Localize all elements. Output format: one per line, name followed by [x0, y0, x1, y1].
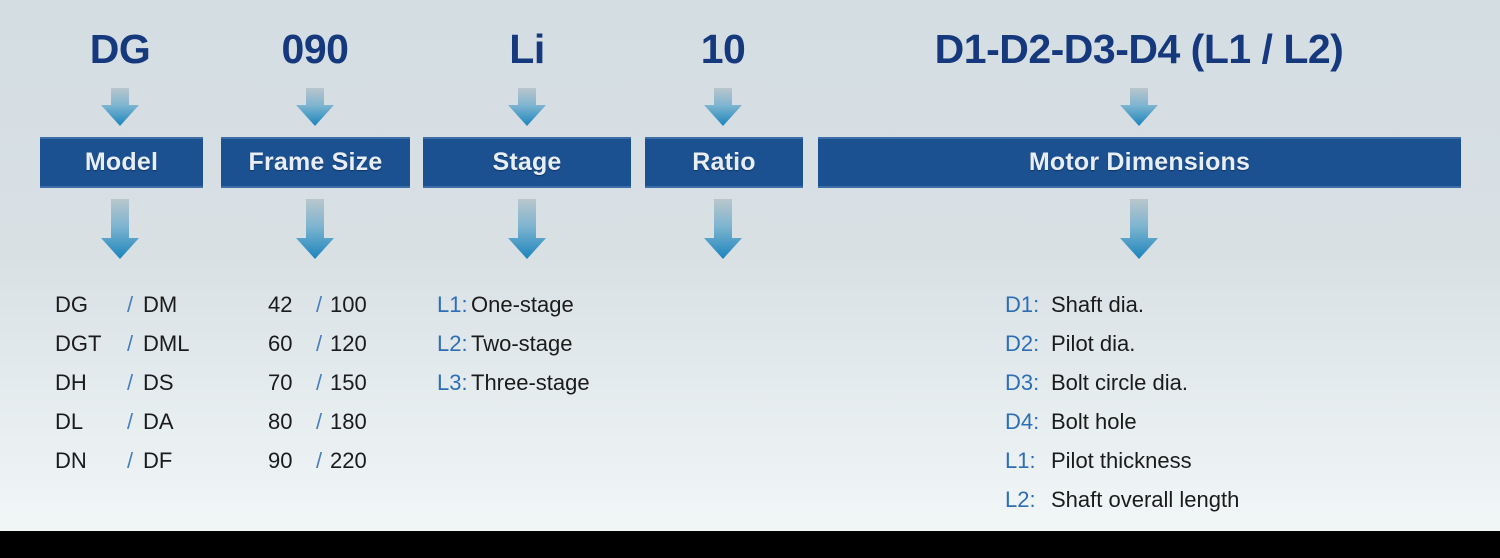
legend-key: L2: [437, 331, 471, 357]
down-arrow-icon [704, 88, 742, 126]
stage-option-row: L3:Three-stage [437, 370, 590, 409]
option-separator: / [117, 409, 143, 435]
legend-value: Two-stage [471, 331, 573, 357]
down-arrow-icon [508, 88, 546, 126]
legend-key: D3: [1005, 370, 1051, 396]
option-row: DN/DF [55, 448, 189, 487]
option-row: DGT/DML [55, 331, 189, 370]
dimension-legend-row: D4:Bolt hole [1005, 409, 1239, 448]
option-separator: / [117, 331, 143, 357]
option-right-value: DML [143, 331, 189, 357]
option-left-value: DG [55, 292, 117, 318]
category-bar: Model [40, 137, 203, 188]
diagram-canvas: DG090Li10D1-D2-D3-D4 (L1 / L2) ModelFram… [0, 0, 1500, 558]
dimension-legend-row: D2:Pilot dia. [1005, 331, 1239, 370]
stage-option-list: L1:One-stageL2:Two-stageL3:Three-stage [437, 292, 590, 409]
bottom-black-band [0, 531, 1500, 558]
down-arrow-icon [704, 199, 742, 259]
legend-value: Shaft overall length [1051, 487, 1239, 513]
option-left-value: 42 [268, 292, 308, 318]
stage-option-row: L1:One-stage [437, 292, 590, 331]
legend-key: L3: [437, 370, 471, 396]
option-separator: / [117, 370, 143, 396]
dimension-legend-row: L1:Pilot thickness [1005, 448, 1239, 487]
category-bar-label: Ratio [692, 148, 756, 177]
option-row: 60/120 [268, 331, 367, 370]
legend-key: L2: [1005, 487, 1051, 513]
option-right-value: 100 [330, 292, 367, 318]
option-right-value: DS [143, 370, 174, 396]
option-row: 90/220 [268, 448, 367, 487]
dimension-legend-row: L2:Shaft overall length [1005, 487, 1239, 526]
legend-key: D4: [1005, 409, 1051, 435]
option-left-value: DGT [55, 331, 117, 357]
code-token: DG [90, 26, 151, 73]
legend-value: Pilot thickness [1051, 448, 1192, 474]
option-right-value: 150 [330, 370, 367, 396]
option-left-value: DH [55, 370, 117, 396]
category-bar: Stage [423, 137, 631, 188]
down-arrow-icon [508, 199, 546, 259]
down-arrow-icon [1120, 88, 1158, 126]
category-bar-label: Frame Size [248, 148, 382, 177]
option-left-value: 60 [268, 331, 308, 357]
option-right-value: 220 [330, 448, 367, 474]
option-separator: / [117, 292, 143, 318]
option-row: 42/100 [268, 292, 367, 331]
dimension-legend-row: D1:Shaft dia. [1005, 292, 1239, 331]
option-left-value: 80 [268, 409, 308, 435]
stage-option-row: L2:Two-stage [437, 331, 590, 370]
code-token: Li [509, 26, 544, 73]
option-left-value: 70 [268, 370, 308, 396]
option-left-value: 90 [268, 448, 308, 474]
legend-key: L1: [437, 292, 471, 318]
down-arrow-icon [101, 88, 139, 126]
category-bar: Ratio [645, 137, 803, 188]
option-right-value: DF [143, 448, 172, 474]
category-bar: Frame Size [221, 137, 410, 188]
motor-dimensions-legend: D1:Shaft dia.D2:Pilot dia.D3:Bolt circle… [1005, 292, 1239, 526]
option-right-value: 120 [330, 331, 367, 357]
option-right-value: DM [143, 292, 177, 318]
option-right-value: 180 [330, 409, 367, 435]
option-row: 80/180 [268, 409, 367, 448]
option-separator: / [308, 409, 330, 435]
option-row: DG/DM [55, 292, 189, 331]
legend-value: Three-stage [471, 370, 590, 396]
option-separator: / [308, 370, 330, 396]
option-separator: / [308, 292, 330, 318]
option-left-value: DL [55, 409, 117, 435]
model-option-list: DG/DMDGT/DMLDH/DSDL/DADN/DF [55, 292, 189, 487]
code-token: 10 [701, 26, 746, 73]
category-bar-label: Motor Dimensions [1029, 148, 1250, 177]
down-arrow-icon [1120, 199, 1158, 259]
down-arrow-icon [296, 199, 334, 259]
legend-value: One-stage [471, 292, 574, 318]
option-separator: / [308, 448, 330, 474]
category-bar-label: Stage [492, 148, 561, 177]
legend-key: D2: [1005, 331, 1051, 357]
legend-value: Bolt circle dia. [1051, 370, 1188, 396]
down-arrow-icon [296, 88, 334, 126]
category-bar: Motor Dimensions [818, 137, 1461, 188]
legend-key: D1: [1005, 292, 1051, 318]
dimension-legend-row: D3:Bolt circle dia. [1005, 370, 1239, 409]
option-row: 70/150 [268, 370, 367, 409]
option-separator: / [117, 448, 143, 474]
category-bar-label: Model [85, 148, 158, 177]
option-left-value: DN [55, 448, 117, 474]
legend-key: L1: [1005, 448, 1051, 474]
option-row: DL/DA [55, 409, 189, 448]
frame-size-option-list: 42/10060/12070/15080/18090/220 [268, 292, 367, 487]
code-token: D1-D2-D3-D4 (L1 / L2) [935, 26, 1344, 73]
code-token: 090 [282, 26, 349, 73]
down-arrow-icon [101, 199, 139, 259]
option-separator: / [308, 331, 330, 357]
option-right-value: DA [143, 409, 174, 435]
option-row: DH/DS [55, 370, 189, 409]
legend-value: Pilot dia. [1051, 331, 1135, 357]
legend-value: Shaft dia. [1051, 292, 1144, 318]
legend-value: Bolt hole [1051, 409, 1137, 435]
